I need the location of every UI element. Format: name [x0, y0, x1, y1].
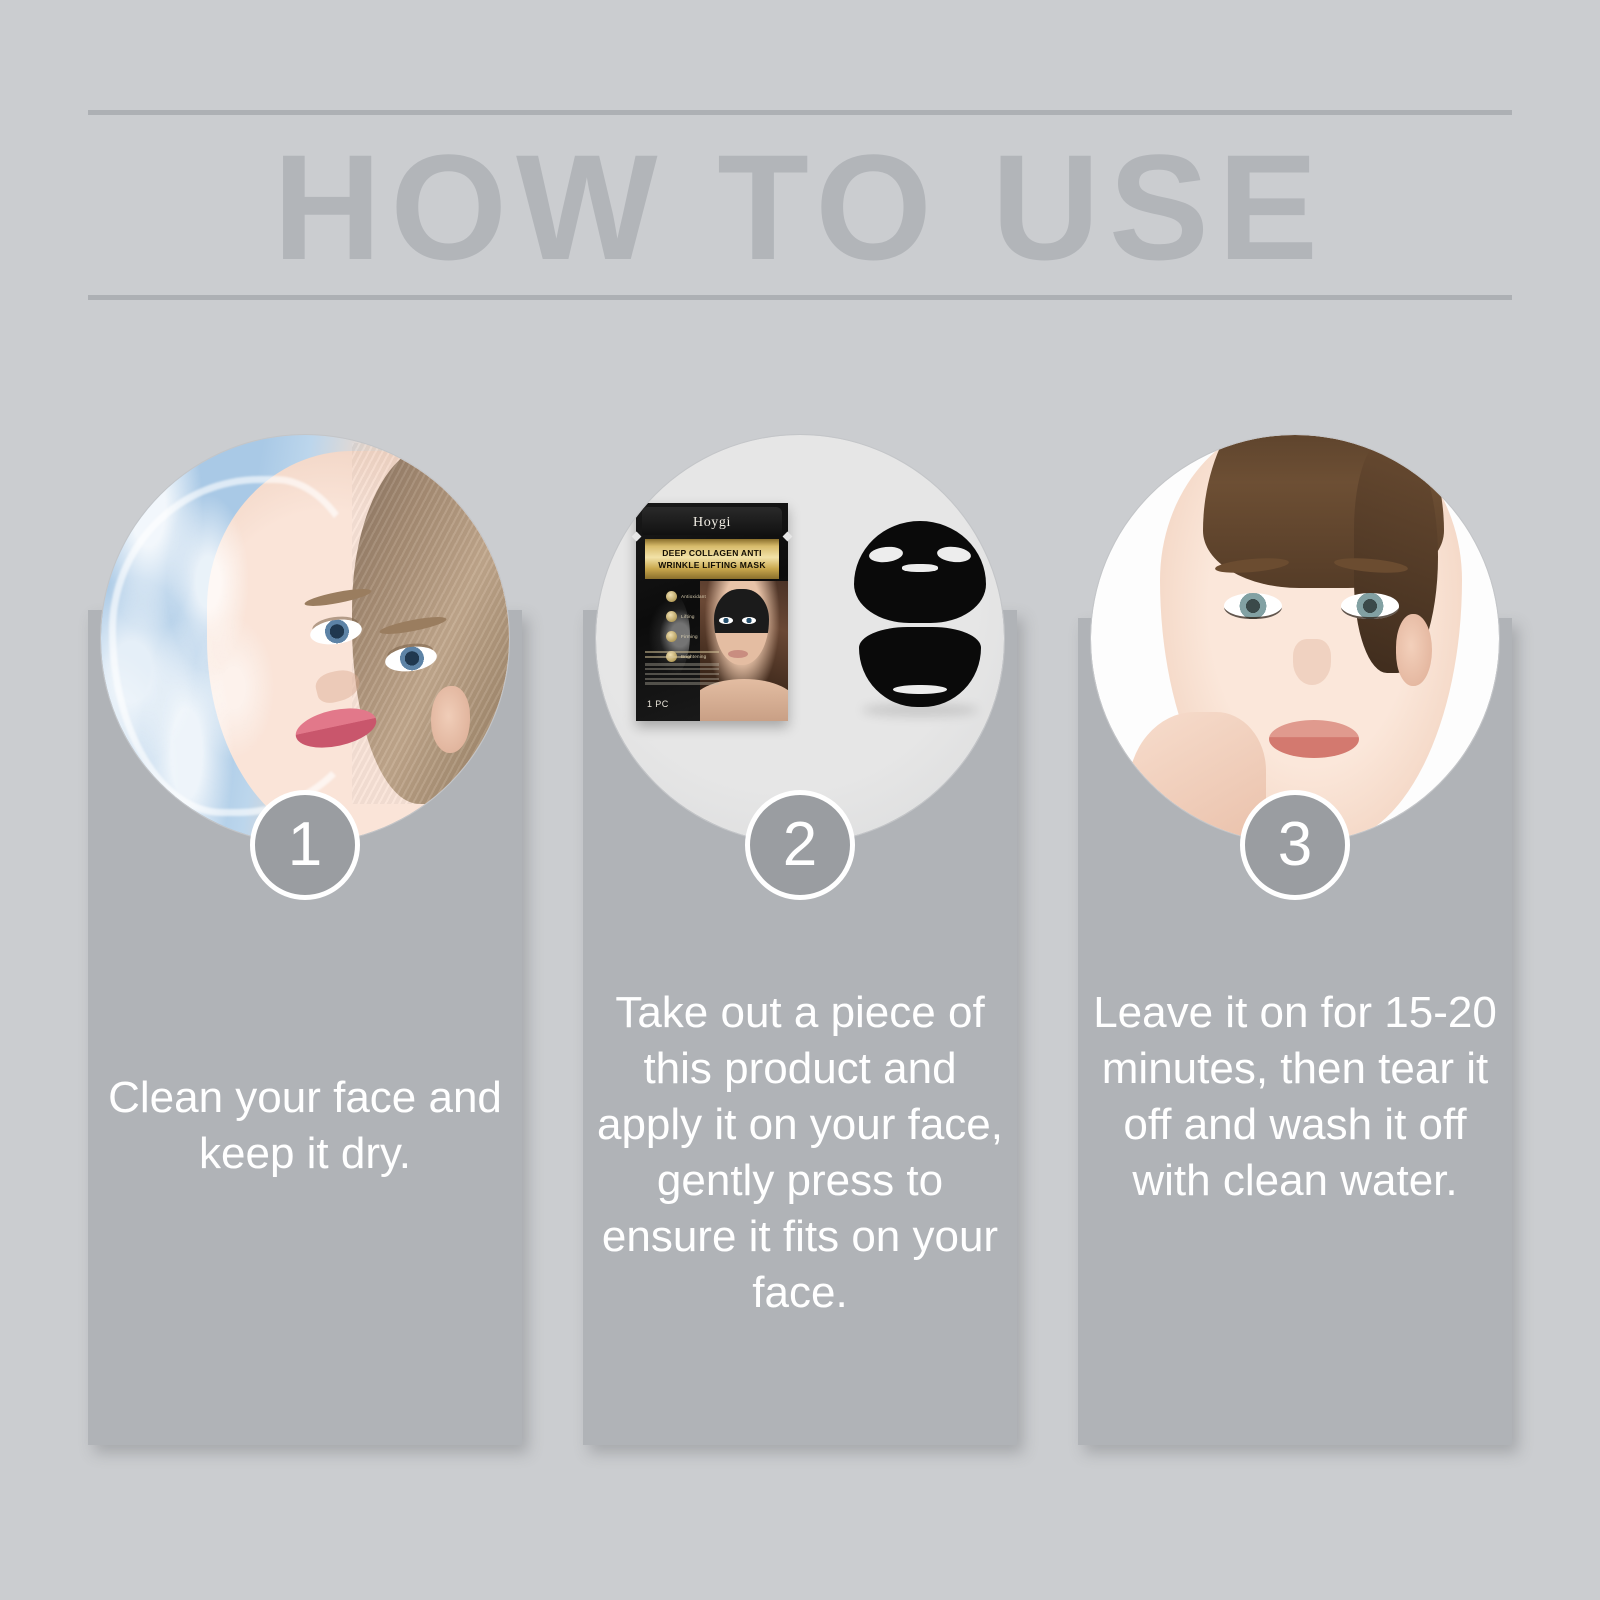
sheet-mask-eye-hole-left — [868, 545, 904, 564]
photo3-lips — [1269, 720, 1359, 758]
woman-face-water-splash-photo — [101, 435, 509, 843]
sheet-mask-eye-hole-right — [936, 545, 972, 564]
package-model-lips — [728, 650, 748, 658]
step-caption-1: Clean your face and keep it dry. — [101, 1070, 509, 1182]
step-number-badge-1: 1 — [250, 790, 360, 900]
lifting-icon — [666, 611, 677, 622]
product-feature-item: Antioxidant — [666, 591, 706, 602]
product-feature-item: Lifting — [666, 611, 706, 622]
sheet-mask-lower-part — [859, 627, 980, 707]
step-caption-3: Leave it on for 15-20 minutes, then tear… — [1091, 985, 1499, 1209]
step-card-1: 1 Clean your face and keep it dry. — [85, 0, 525, 1600]
sheet-mask-upper-part — [854, 521, 986, 623]
step-image-1 — [100, 434, 510, 844]
product-brand-name: Hoygi — [636, 515, 788, 531]
product-name-line-1: DEEP COLLAGEN ANTI — [662, 548, 761, 558]
product-feature-item: Firming — [666, 631, 706, 642]
firming-icon — [666, 631, 677, 642]
sheet-mask — [854, 521, 986, 707]
product-feature-label: Lifting — [681, 614, 695, 619]
step-image-3 — [1090, 434, 1500, 844]
step-card-3: 3 Leave it on for 15-20 minutes, then te… — [1075, 0, 1515, 1600]
photo3-eye-right — [1341, 593, 1399, 619]
sheet-mask-mouth-hole — [893, 685, 946, 695]
product-name-banner: DEEP COLLAGEN ANTI WRINKLE LIFTING MASK — [645, 539, 779, 579]
antioxidant-icon — [666, 591, 677, 602]
product-package-and-sheet-mask-photo: Hoygi DEEP COLLAGEN ANTI WRINKLE LIFTING… — [596, 435, 1004, 843]
photo3-eye-left — [1224, 593, 1282, 619]
photo1-ear — [431, 686, 470, 753]
sheet-mask-nose-slit — [902, 564, 939, 572]
woman-touching-face-photo — [1091, 435, 1499, 843]
product-feature-label: Firming — [681, 634, 698, 639]
photo3-ear — [1396, 614, 1432, 686]
step-image-2: Hoygi DEEP COLLAGEN ANTI WRINKLE LIFTING… — [595, 434, 1005, 844]
product-quantity-label: 1 PC — [647, 699, 669, 709]
step-card-2: Hoygi DEEP COLLAGEN ANTI WRINKLE LIFTING… — [580, 0, 1020, 1600]
product-name-line-2: WRINKLE LIFTING MASK — [658, 560, 765, 570]
photo3-nose — [1293, 639, 1331, 685]
step-number-badge-2: 2 — [745, 790, 855, 900]
product-package: Hoygi DEEP COLLAGEN ANTI WRINKLE LIFTING… — [636, 503, 788, 721]
step-caption-2: Take out a piece of this product and app… — [596, 985, 1004, 1321]
product-description-text — [645, 651, 719, 687]
step-number-badge-3: 3 — [1240, 790, 1350, 900]
steps-container: 1 Clean your face and keep it dry. Hoygi… — [0, 0, 1600, 1600]
photo1-water-wave — [109, 476, 376, 816]
product-feature-label: Antioxidant — [681, 594, 706, 599]
